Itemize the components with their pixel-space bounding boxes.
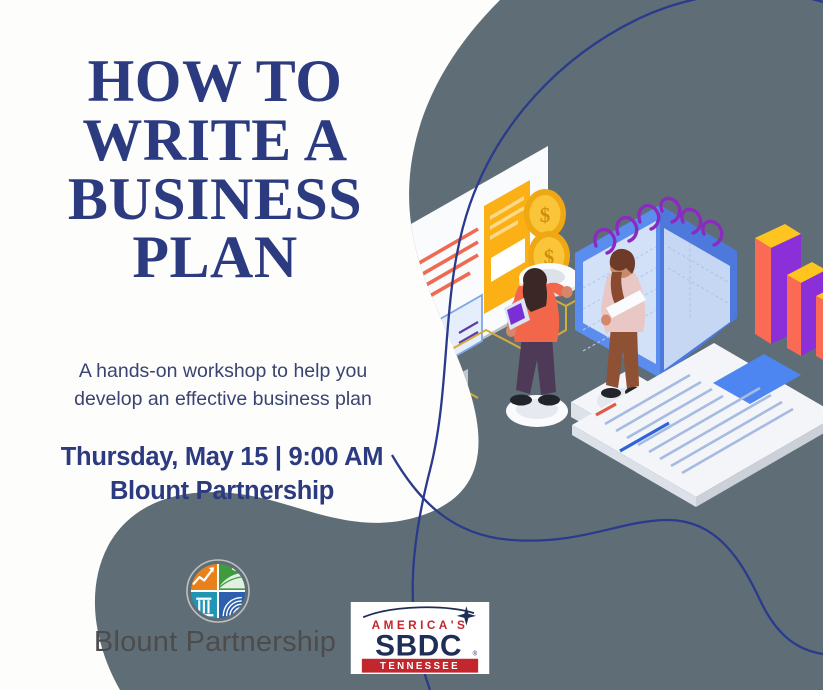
person-with-tablet [504,268,573,427]
bar-chart-3d [755,224,823,363]
calendar-spiral-binding [595,198,722,253]
business-plan-document [572,343,823,507]
tablet-device [504,298,530,330]
event-location: Blount Partnership [12,474,432,508]
desk-calendar [575,198,737,378]
blount-partnership-wordmark: Blount Partnership [80,626,350,659]
gold-connector-path [443,284,598,398]
event-details: Thursday, May 15 | 9:00 AM Blount Partne… [12,440,432,508]
person-with-document [571,249,680,447]
event-datetime: Thursday, May 15 | 9:00 AM [61,443,383,471]
svg-text:$: $ [540,203,551,227]
blount-partnership-circle-mark [185,558,251,624]
americas-sbdc-tennessee-logo: AMERICA'S SBDC ® TENNESSEE [350,602,490,674]
page-title: HOW TO WRITE A BUSINESS PLAN [0,52,430,287]
logo-row: Blount Partnership AMERICA'S SBDC ® TENN… [60,556,510,680]
sbdc-acronym: SBDC [375,629,462,662]
blount-partnership-logo: Blount Partnership [80,556,350,676]
poster-canvas: $ $ [0,0,823,690]
poster-subtitle: A hands-on workshop to help you develop … [28,358,418,413]
sbdc-state-text: TENNESSEE [380,661,460,672]
svg-text:$: $ [544,245,555,269]
growth-chart-quadrant [189,562,217,590]
gold-coins-stack: $ $ [519,189,579,297]
svg-text:®: ® [473,650,478,657]
